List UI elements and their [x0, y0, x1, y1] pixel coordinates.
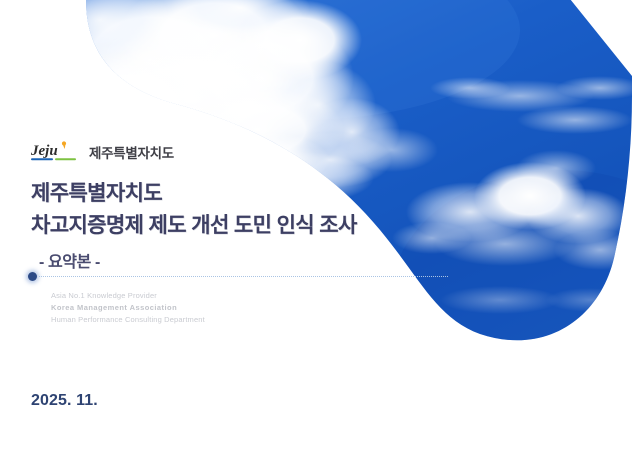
brand-name: 제주특별자치도 [89, 147, 174, 165]
svg-text:Jeju: Jeju [30, 143, 58, 159]
divider-line [39, 276, 448, 278]
organization-tagline: Asia No.1 Knowledge Provider [51, 290, 205, 302]
divider-dot-icon [28, 272, 37, 281]
jeju-logo-icon: Jeju [30, 140, 80, 164]
cover-slide: Jeju 제주특별자치도 제주특별자치도 차고지증명제 제도 개선 도민 인식 … [0, 0, 632, 475]
corner-notch [566, 0, 632, 76]
headline-line-2: 차고지증명제 제도 개선 도민 인식 조사 [31, 210, 461, 242]
organization-name: Korea Management Association [51, 302, 205, 314]
headline-subtitle: - 요약본 - [39, 248, 461, 272]
headline-line-1: 제주특별자치도 [31, 178, 461, 210]
organization-department: Human Performance Consulting Department [51, 314, 205, 326]
date-stamp: 2025. 11. [31, 392, 98, 410]
brand-lockup: Jeju 제주특별자치도 [30, 140, 174, 164]
divider [28, 271, 448, 283]
headline-block: 제주특별자치도 차고지증명제 제도 개선 도민 인식 조사 - 요약본 - [31, 178, 461, 272]
organization-block: Asia No.1 Knowledge Provider Korea Manag… [51, 290, 205, 326]
